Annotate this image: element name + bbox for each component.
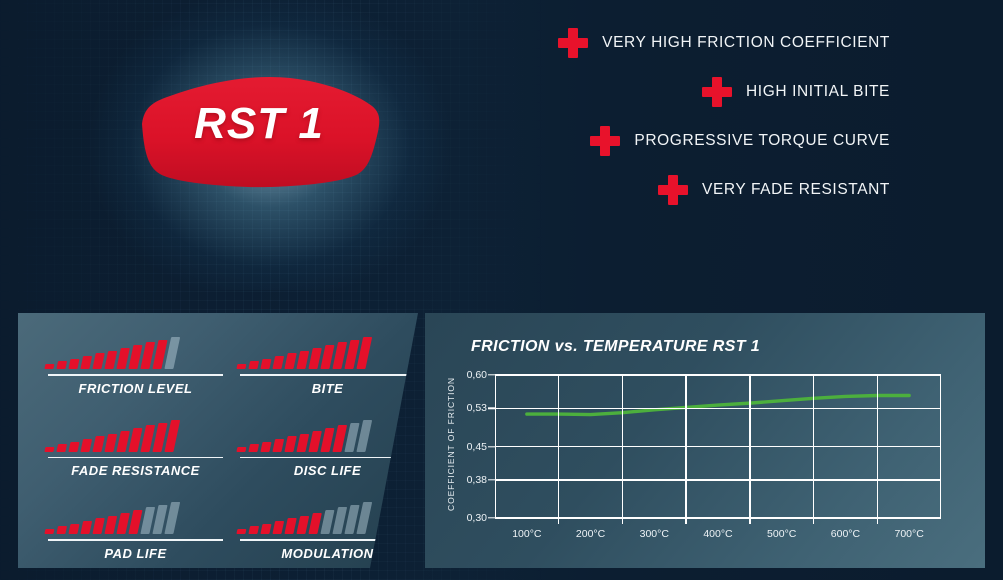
rating-bar bbox=[92, 518, 104, 534]
rating-divider bbox=[48, 539, 223, 541]
rating-bar bbox=[248, 444, 259, 452]
rating-bar bbox=[56, 444, 67, 452]
chart-x-tick-label: 200°C bbox=[576, 528, 605, 540]
rating-bar bbox=[296, 516, 309, 535]
rating-bar bbox=[296, 433, 309, 452]
rating-bar bbox=[260, 441, 271, 451]
rating-bar bbox=[104, 351, 117, 370]
rating-item: FRICTION LEVEL bbox=[48, 335, 223, 396]
chart-gridline-horizontal bbox=[495, 446, 941, 447]
feature-item: VERY FADE RESISTANT bbox=[658, 175, 890, 205]
chart-y-tick-mark bbox=[488, 446, 495, 447]
rating-label: MODULATION bbox=[240, 546, 415, 561]
rating-bar bbox=[44, 447, 54, 452]
rating-bar bbox=[272, 438, 284, 451]
rating-bar bbox=[56, 361, 67, 369]
chart-x-tick-label: 300°C bbox=[640, 528, 669, 540]
chart-gridline-horizontal bbox=[495, 408, 941, 409]
rating-bars bbox=[44, 500, 226, 534]
chart-x-tick-mark bbox=[685, 518, 686, 524]
chart-x-tick-mark bbox=[558, 518, 559, 524]
feature-item: HIGH INITIAL BITE bbox=[702, 77, 890, 107]
rating-bar bbox=[92, 436, 104, 452]
chart-x-tick-mark bbox=[813, 518, 814, 524]
rating-bar bbox=[236, 364, 246, 369]
rating-label: FADE RESISTANCE bbox=[48, 463, 223, 478]
rst1-logo: RST 1 bbox=[130, 62, 388, 190]
chart-y-tick-label: 0,60 bbox=[467, 369, 487, 381]
rating-bars bbox=[44, 418, 226, 452]
chart-plot: 0,600,530,450,380,30100°C200°C300°C400°C… bbox=[495, 375, 941, 518]
rating-bar bbox=[236, 447, 246, 452]
chart-x-tick-label: 500°C bbox=[767, 528, 796, 540]
rating-bar bbox=[284, 436, 296, 452]
plus-icon bbox=[558, 28, 588, 58]
product-infographic: RST 1 VERY HIGH FRICTION COEFFICIENT HIG… bbox=[0, 0, 1003, 580]
chart-gridline-horizontal bbox=[495, 479, 941, 480]
rating-bar bbox=[116, 430, 130, 451]
chart-x-tick-mark bbox=[622, 518, 623, 524]
rating-bar bbox=[104, 516, 117, 535]
rating-bar bbox=[44, 529, 54, 534]
rating-divider bbox=[240, 457, 415, 459]
chart-y-tick-label: 0,53 bbox=[467, 402, 487, 414]
chart-y-tick-mark bbox=[488, 517, 495, 518]
chart-gridline-vertical bbox=[685, 375, 686, 518]
rating-bar bbox=[284, 518, 296, 534]
chart-gridline-vertical bbox=[813, 375, 814, 518]
rating-bars bbox=[236, 418, 418, 452]
chart-y-tick-mark bbox=[488, 408, 495, 409]
rating-divider bbox=[240, 539, 415, 541]
feature-item: VERY HIGH FRICTION COEFFICIENT bbox=[558, 28, 890, 58]
chart-series-line bbox=[527, 396, 909, 415]
chart-x-tick-label: 100°C bbox=[512, 528, 541, 540]
chart-x-tick-mark bbox=[749, 518, 750, 524]
chart-y-tick-mark bbox=[488, 479, 495, 480]
chart-gridline-vertical bbox=[877, 375, 878, 518]
rating-grid: FRICTION LEVELBITEFADE RESISTANCEDISC LI… bbox=[48, 335, 398, 561]
rating-divider bbox=[48, 374, 223, 376]
rating-bar bbox=[296, 351, 309, 370]
rating-bars bbox=[236, 335, 418, 369]
chart-title: FRICTION vs. TEMPERATURE RST 1 bbox=[471, 338, 760, 356]
rating-bar bbox=[248, 526, 259, 534]
chart-x-tick-label: 400°C bbox=[703, 528, 732, 540]
chart-y-tick-mark bbox=[488, 374, 495, 375]
rating-bar bbox=[104, 433, 117, 452]
chart-gridline-vertical bbox=[622, 375, 623, 518]
rating-item: MODULATION bbox=[240, 500, 415, 561]
rating-bar bbox=[308, 430, 322, 451]
plus-icon bbox=[590, 126, 620, 156]
rating-item: FADE RESISTANCE bbox=[48, 418, 223, 479]
rating-bar bbox=[68, 524, 79, 534]
chart-gridline-vertical bbox=[558, 375, 559, 518]
chart-y-axis-line bbox=[495, 375, 496, 518]
rating-bar bbox=[80, 521, 92, 534]
chart-y-tick-label: 0,38 bbox=[467, 474, 487, 486]
rating-bar bbox=[68, 359, 79, 369]
plus-icon bbox=[658, 175, 688, 205]
rating-bar bbox=[248, 361, 259, 369]
chart-y-axis-label: COEFFICIENT OF FRICTION bbox=[443, 369, 459, 519]
feature-item: PROGRESSIVE TORQUE CURVE bbox=[590, 126, 890, 156]
feature-label: VERY HIGH FRICTION COEFFICIENT bbox=[602, 34, 890, 52]
plus-icon bbox=[702, 77, 732, 107]
chart-gridline-horizontal bbox=[495, 517, 941, 518]
rating-label: DISC LIFE bbox=[240, 463, 415, 478]
chart-x-tick-mark bbox=[877, 518, 878, 524]
rating-bar bbox=[272, 356, 284, 369]
rating-bar bbox=[44, 364, 54, 369]
rating-bar bbox=[284, 353, 296, 369]
feature-label: VERY FADE RESISTANT bbox=[702, 181, 890, 199]
rating-bar bbox=[68, 441, 79, 451]
feature-label: PROGRESSIVE TORQUE CURVE bbox=[634, 132, 890, 150]
feature-label: HIGH INITIAL BITE bbox=[746, 83, 890, 101]
chart-right-border bbox=[940, 375, 941, 518]
feature-list: VERY HIGH FRICTION COEFFICIENT HIGH INIT… bbox=[470, 28, 890, 224]
chart-area: COEFFICIENT OF FRICTION 0,600,530,450,38… bbox=[443, 369, 971, 554]
rating-bar bbox=[272, 521, 284, 534]
logo-text: RST 1 bbox=[130, 62, 388, 190]
rating-bar bbox=[92, 353, 104, 369]
rating-bar bbox=[260, 359, 271, 369]
rating-bars bbox=[44, 335, 226, 369]
rating-bars bbox=[236, 500, 418, 534]
rating-label: PAD LIFE bbox=[48, 546, 223, 561]
chart-x-tick-label: 700°C bbox=[894, 528, 923, 540]
rating-label: BITE bbox=[240, 381, 415, 396]
chart-y-tick-label: 0,45 bbox=[467, 441, 487, 453]
rating-item: PAD LIFE bbox=[48, 500, 223, 561]
chart-gridline-vertical bbox=[749, 375, 750, 518]
rating-item: BITE bbox=[240, 335, 415, 396]
chart-panel: FRICTION vs. TEMPERATURE RST 1 COEFFICIE… bbox=[425, 313, 985, 568]
rating-bar bbox=[80, 356, 92, 369]
chart-gridline-horizontal bbox=[495, 374, 941, 375]
rating-divider bbox=[240, 374, 415, 376]
rating-bar bbox=[80, 438, 92, 451]
rating-divider bbox=[48, 457, 223, 459]
ratings-panel: FRICTION LEVELBITEFADE RESISTANCEDISC LI… bbox=[18, 313, 418, 568]
rating-label: FRICTION LEVEL bbox=[48, 381, 223, 396]
chart-y-tick-label: 0,30 bbox=[467, 512, 487, 524]
rating-bar bbox=[236, 529, 246, 534]
rating-bar bbox=[56, 526, 67, 534]
chart-x-tick-label: 600°C bbox=[831, 528, 860, 540]
rating-bar bbox=[260, 524, 271, 534]
rating-item: DISC LIFE bbox=[240, 418, 415, 479]
